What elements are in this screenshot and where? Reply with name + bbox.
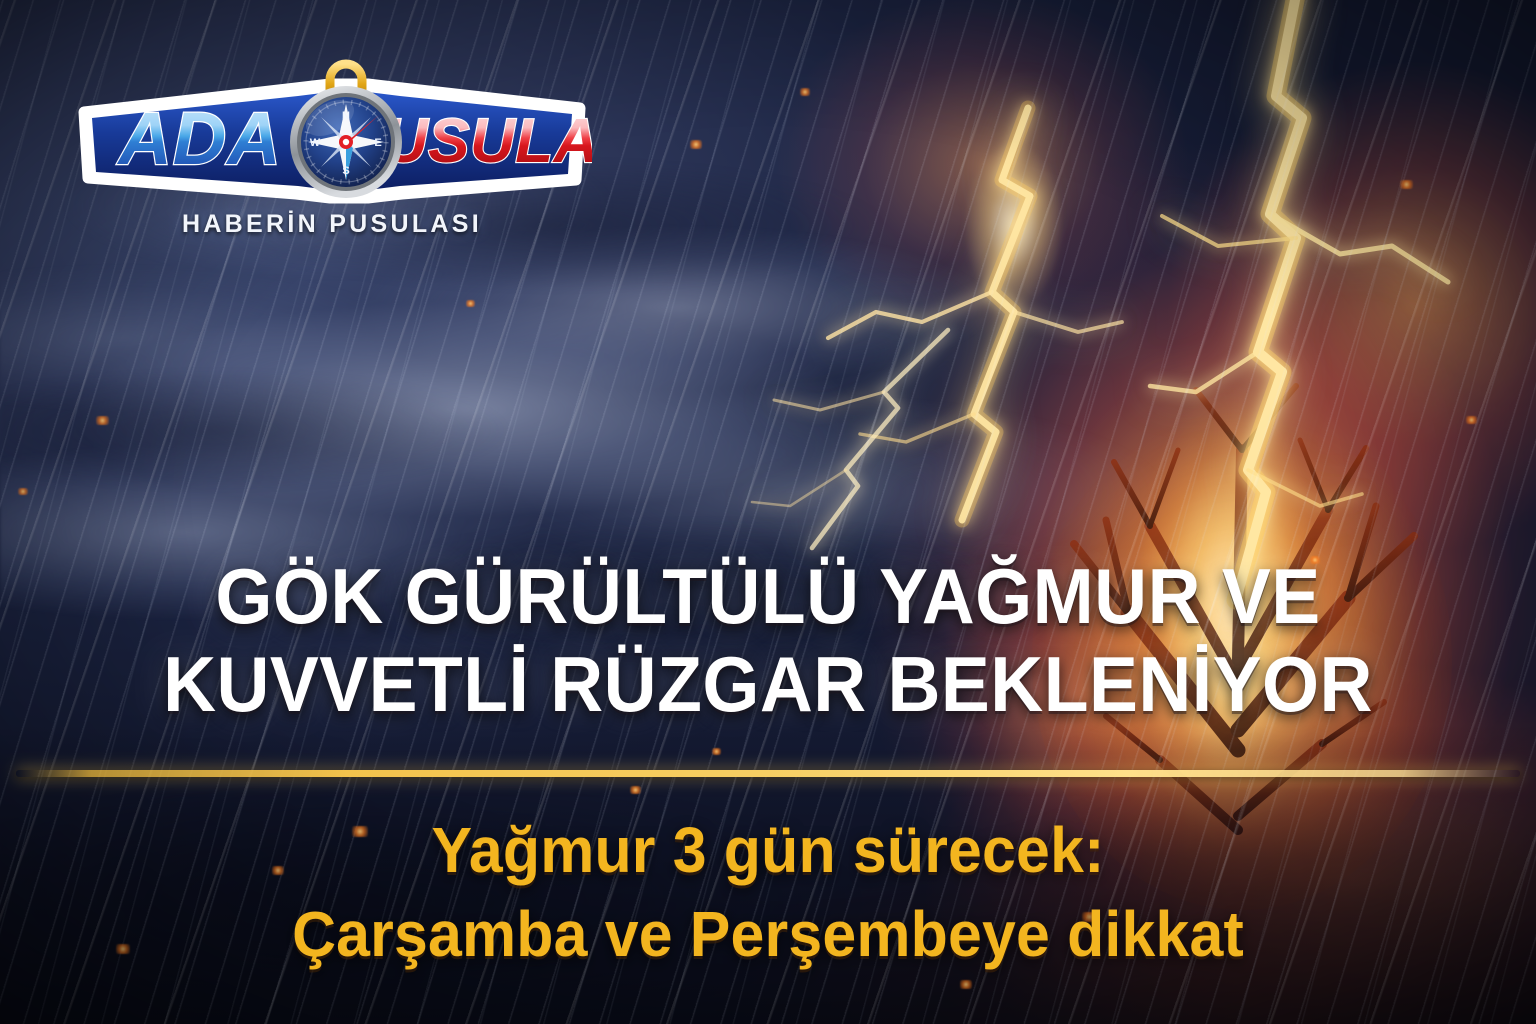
- gold-divider: [16, 770, 1520, 777]
- headline: GÖK GÜRÜLTÜLÜ YAĞMUR VE KUVVETLİ RÜZGAR …: [46, 552, 1490, 728]
- logo-mark: ADA PUSULA: [72, 58, 592, 206]
- logo-tagline: HABERİN PUSULASI: [72, 210, 592, 239]
- site-logo[interactable]: ADA PUSULA: [72, 58, 612, 258]
- subtitle-line-1: Yağmur 3 gün sürecek:: [38, 808, 1497, 892]
- compass-label-east: E: [374, 137, 381, 149]
- compass-label-west: W: [310, 137, 321, 149]
- logo-text-ada: ADA: [116, 97, 281, 180]
- compass-label-south: S: [342, 165, 349, 177]
- subtitle-line-2: Çarşamba ve Perşembeye dikkat: [38, 892, 1497, 976]
- headline-line-1: GÖK GÜRÜLTÜLÜ YAĞMUR VE: [46, 552, 1490, 640]
- subtitle: Yağmur 3 gün sürecek: Çarşamba ve Perşem…: [38, 808, 1497, 977]
- news-poster: ADA PUSULA: [0, 0, 1536, 1024]
- logo-wordmark-icon: ADA PUSULA: [72, 58, 592, 206]
- headline-line-2: KUVVETLİ RÜZGAR BEKLENİYOR: [46, 640, 1490, 728]
